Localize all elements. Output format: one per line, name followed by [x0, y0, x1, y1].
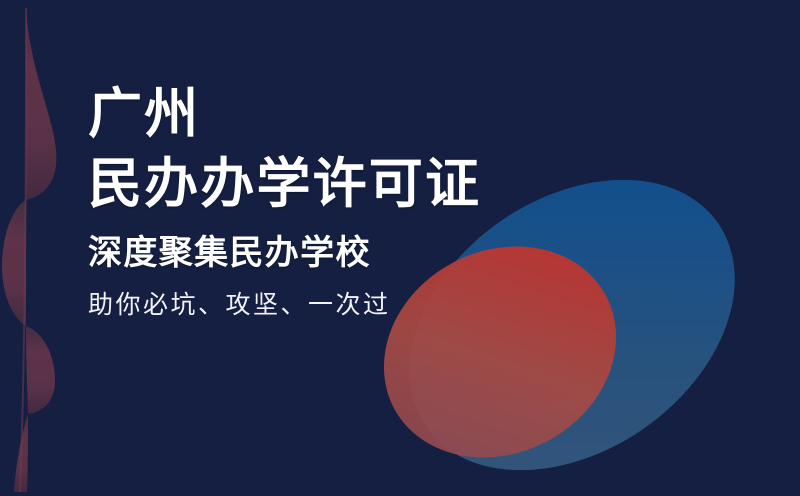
text-block: 广州 民办办学许可证 深度聚集民办学校 助你必坑、攻坚、一次过 [88, 86, 708, 317]
banner-root: 广州 民办办学许可证 深度聚集民办学校 助你必坑、攻坚、一次过 [0, 0, 800, 496]
tagline: 助你必坑、攻坚、一次过 [88, 292, 708, 317]
page-title-line-1: 广州 [88, 86, 708, 140]
page-title-line-2: 民办办学许可证 [88, 156, 708, 210]
subtitle: 深度聚集民办学校 [88, 236, 708, 270]
